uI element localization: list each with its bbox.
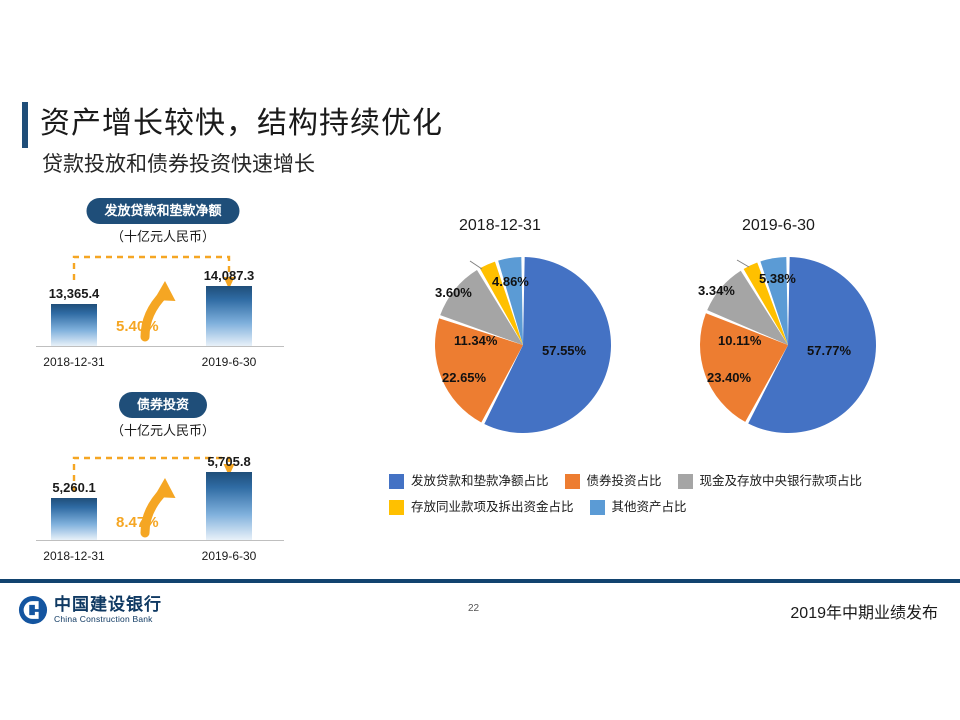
- pie-chart-2018: 57.55% 22.65% 11.34% 3.60% 4.86%: [418, 245, 623, 450]
- legend-label: 存放同业款项及拆出资金占比: [411, 500, 574, 515]
- bar-loans-1: [206, 286, 252, 346]
- slide: 资产增长较快，结构持续优化 贷款投放和债券投资快速增长 发放贷款和垫款净额 （十…: [0, 0, 960, 720]
- bar-chart-loans-plot: 13,365.4 14,087.3 5.40% 2018-12-31 2019-…: [28, 246, 298, 373]
- pie-2019-pct-3: 3.34%: [698, 283, 735, 298]
- ccb-logo: 中国建设银行 China Construction Bank: [18, 595, 162, 625]
- bar-bonds-1: [206, 472, 252, 540]
- bar-bonds-1-value: 5,705.8: [169, 454, 289, 469]
- pie-chart-0-title: 2018-12-31: [459, 217, 541, 235]
- bar-bonds-xtick-0: 2018-12-31: [14, 549, 134, 563]
- legend-item-other[interactable]: 其他资产占比: [590, 500, 687, 515]
- bar-chart-bonds-plot: 5,260.1 5,705.8 8.47% 2018-12-31 2019-6-…: [28, 440, 298, 567]
- bar-bonds-growth: 8.47%: [116, 514, 159, 531]
- ccb-logo-icon: [18, 595, 48, 625]
- bar-chart-bonds: 债券投资 （十亿元人民币） 5,260.1 5,705.8 8.47% 2018…: [28, 392, 298, 567]
- pie-chart-1-title: 2019-6-30: [742, 217, 815, 235]
- pie-2019-pct-4: 5.38%: [759, 271, 796, 286]
- legend-label: 其他资产占比: [612, 500, 687, 515]
- bar-chart-loans: 发放贷款和垫款净额 （十亿元人民币） 13,365.4 14,087.3 5.4…: [28, 198, 298, 373]
- pie-2019-pct-2: 10.11%: [718, 333, 761, 348]
- bar-loans-xtick-0: 2018-12-31: [14, 355, 134, 369]
- leader-line: [737, 260, 749, 267]
- legend-label: 债券投资占比: [587, 474, 662, 489]
- title-accent-bar: [22, 102, 28, 148]
- legend-swatch-icon: [678, 474, 693, 489]
- pie-2018-pct-3: 3.60%: [435, 285, 472, 300]
- bar-bonds-0: [51, 498, 97, 540]
- pie-2019-pct-0: 57.77%: [807, 343, 851, 358]
- legend-swatch-icon: [565, 474, 580, 489]
- pie-legend: 发放贷款和垫款净额占比 债券投资占比 现金及存放中央银行款项占比 存放同业款项及…: [389, 470, 889, 522]
- leader-line: [470, 261, 482, 269]
- legend-item-interbank[interactable]: 存放同业款项及拆出资金占比: [389, 500, 574, 515]
- page-number: 22: [468, 603, 479, 614]
- ccb-logo-english: China Construction Bank: [54, 614, 162, 625]
- bar-loans-growth: 5.40%: [116, 318, 159, 335]
- bar-bonds-0-value: 5,260.1: [14, 480, 134, 495]
- legend-row-1: 发放贷款和垫款净额占比 债券投资占比 现金及存放中央银行款项占比: [389, 470, 889, 492]
- pie-2018-pct-2: 11.34%: [454, 333, 497, 348]
- legend-item-bonds[interactable]: 债券投资占比: [565, 474, 662, 489]
- pie-chart-2019: 57.77% 23.40% 10.11% 3.34% 5.38%: [683, 245, 888, 450]
- bar-loans-0: [51, 304, 97, 346]
- page-title: 资产增长较快，结构持续优化 贷款投放和债券投资快速增长: [22, 102, 443, 180]
- footer-title: 2019年中期业绩发布: [790, 599, 938, 623]
- legend-swatch-icon: [389, 500, 404, 515]
- bar-loans-0-value: 13,365.4: [14, 286, 134, 301]
- legend-label: 发放贷款和垫款净额占比: [411, 474, 549, 489]
- legend-swatch-icon: [590, 500, 605, 515]
- legend-swatch-icon: [389, 474, 404, 489]
- title-subtitle-text: 贷款投放和债券投资快速增长: [42, 150, 443, 180]
- legend-item-loans[interactable]: 发放贷款和垫款净额占比: [389, 474, 549, 489]
- pie-2019-pct-1: 23.40%: [707, 370, 751, 385]
- bar-chart-loans-badge: 发放贷款和垫款净额: [86, 198, 239, 224]
- pie-2018-pct-0: 57.55%: [542, 343, 586, 358]
- pie-2018-pct-1: 22.65%: [442, 370, 486, 385]
- ccb-logo-chinese: 中国建设银行: [54, 595, 162, 614]
- bar-loans-xtick-1: 2019-6-30: [169, 355, 289, 369]
- bar-chart-loans-unit: （十亿元人民币）: [111, 226, 215, 245]
- legend-item-cash[interactable]: 现金及存放中央银行款项占比: [678, 474, 863, 489]
- bar-chart-bonds-unit: （十亿元人民币）: [111, 420, 215, 439]
- title-main-text: 资产增长较快，结构持续优化: [40, 102, 443, 146]
- bar-bonds-xtick-1: 2019-6-30: [169, 549, 289, 563]
- bar-chart-bonds-badge: 债券投资: [119, 392, 207, 418]
- legend-label: 现金及存放中央银行款项占比: [700, 474, 863, 489]
- pie-2018-pct-4: 4.86%: [492, 274, 529, 289]
- footer-divider-highlight: [0, 583, 960, 584]
- legend-row-2: 存放同业款项及拆出资金占比 其他资产占比: [389, 496, 889, 518]
- bar-loans-1-value: 14,087.3: [169, 268, 289, 283]
